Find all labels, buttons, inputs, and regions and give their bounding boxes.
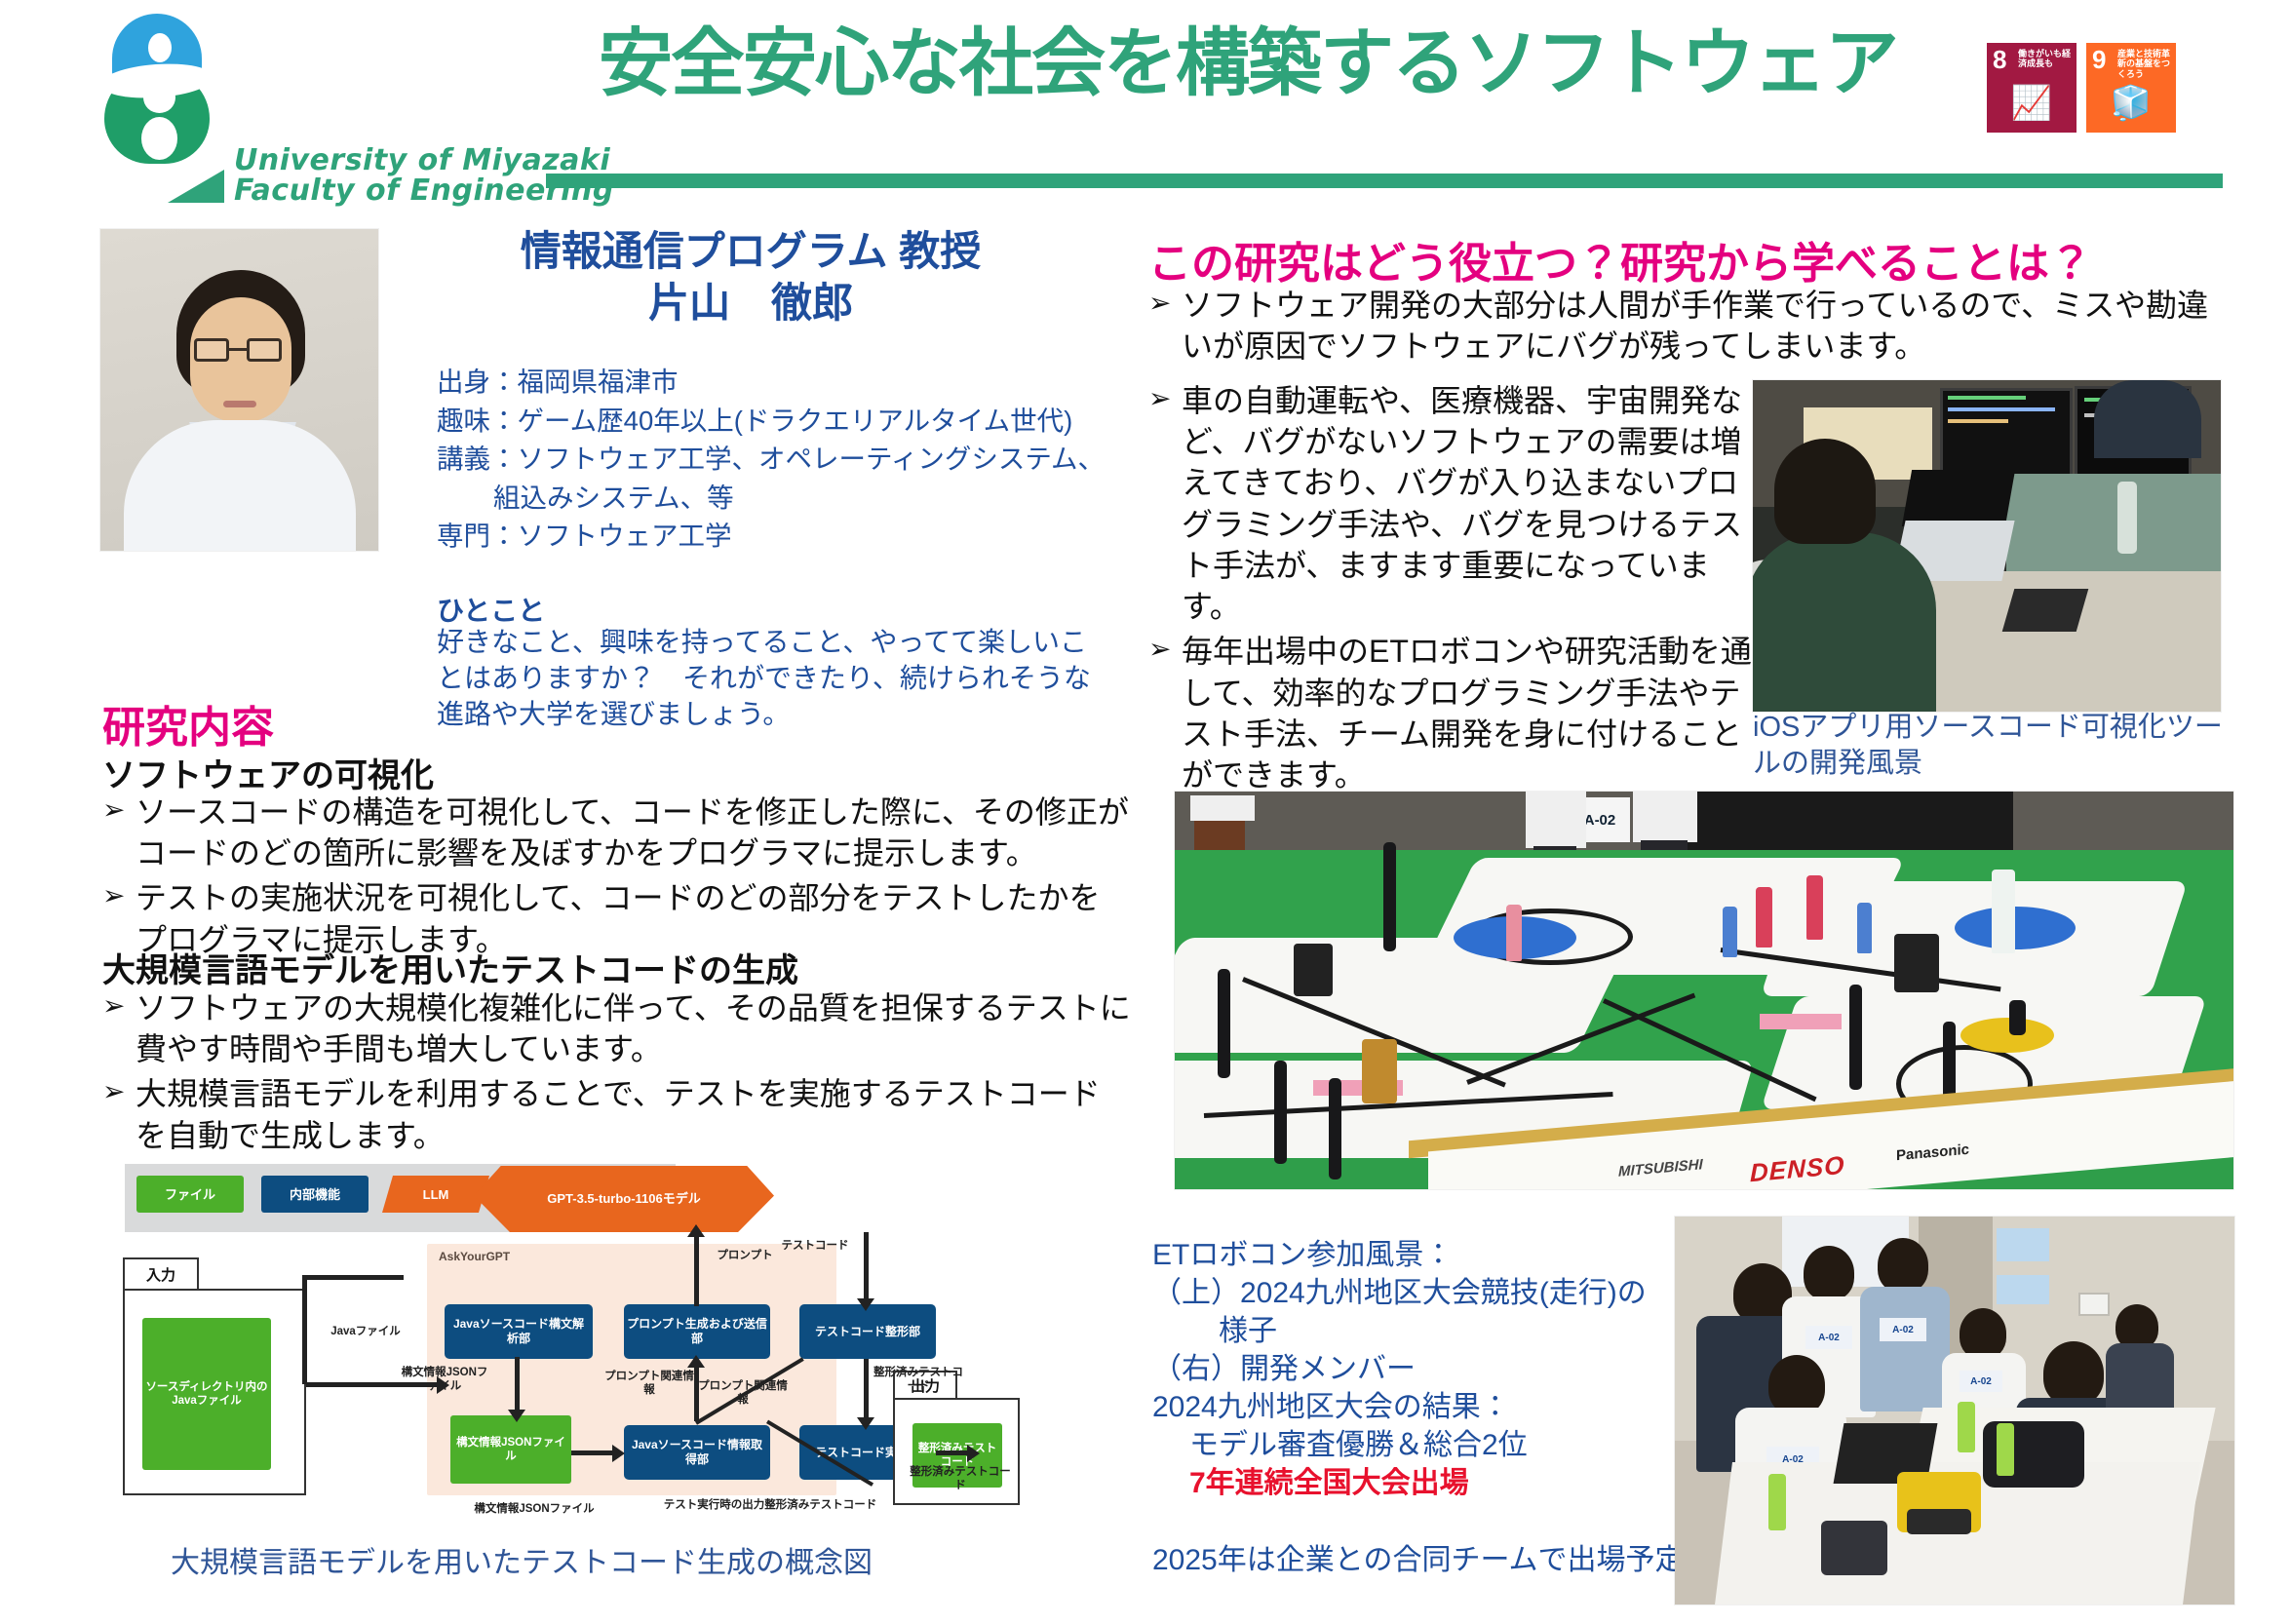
etrobo-line-2: （上）2024九州地区大会競技(走行)の — [1152, 1274, 1698, 1312]
diagram-input-tab: 入力 — [123, 1257, 199, 1291]
bullet-text: 車の自動運転や、医療機器、宇宙開発など、バグがないソフトウェアの需要は増えてきて… — [1182, 380, 1753, 627]
sdg-badge-9: 9 産業と技術革新の基盤をつくろう 🧊 — [2086, 43, 2176, 133]
logo-wedge-icon — [168, 170, 224, 203]
diagram-llm-node: GPT-3.5-turbo-1106モデル — [474, 1166, 774, 1232]
fact-specialty: 専門：ソフトウェア工学 — [437, 517, 1119, 556]
research-heading: 研究内容 — [102, 692, 274, 754]
research-section2-bullets: ➢ ソフトウェアの大規模化複雑化に伴って、その品質を担保するテストに費やす時間や… — [102, 987, 1131, 1160]
sdg-8-label: 働きがいも経済成長も — [2018, 49, 2073, 69]
llm-testcode-diagram: ファイル 内部機能 LLM データ AskYourGPT 入力 ソースディレクト… — [117, 1160, 1024, 1530]
bib-label: A-02 — [1960, 1371, 2002, 1392]
diagram-prompt-generator: プロンプト生成および送信部 — [624, 1304, 770, 1359]
logo-line-1: University of Miyazaki — [234, 146, 614, 176]
professor-role: 情報通信プログラム 教授 — [409, 226, 1092, 276]
bullet-arrow-icon: ➢ — [102, 792, 136, 873]
header-divider — [546, 174, 2223, 188]
diagram-panel-label: AskYourGPT — [439, 1250, 510, 1263]
page-title: 安全安心な社会を構築するソフトウェア — [546, 27, 1950, 101]
right-bullets-top: ➢ ソフトウェア開発の大部分は人間が手作業で行っているので、ミスや勘違いが原因で… — [1148, 285, 2235, 370]
list-item: ➢ ソフトウェアの大規模化複雑化に伴って、その品質を担保するテストに費やす時間や… — [102, 987, 1131, 1069]
caption-exec: テスト実行時の出力整形済みテストコード — [663, 1499, 877, 1513]
list-item: ➢ 毎年出場中のETロボコンや研究活動を通して、効率的なプログラミング手法やテス… — [1148, 631, 1753, 795]
bullet-arrow-icon: ➢ — [1148, 380, 1182, 627]
list-item: ➢ 大規模言語モデルを利用することで、テストを実施するテストコードを自動で生成し… — [102, 1073, 1131, 1155]
university-logo-icon — [93, 14, 219, 150]
etrobo-highlight: 7年連続全国大会出場 — [1152, 1464, 1698, 1502]
professor-portrait-photo — [100, 229, 378, 551]
legend-llm-chip: LLM — [382, 1176, 489, 1213]
fact-lectures-cont: 組込みシステム、等 — [437, 479, 1119, 518]
bullet-text: 大規模言語モデルを利用することで、テストを実施するテストコードを自動で生成します… — [136, 1073, 1131, 1155]
bib-label: A-02 — [1805, 1326, 1852, 1349]
right-bullets-rest: ➢ 車の自動運転や、医療機器、宇宙開発など、バグがないソフトウェアの需要は増えて… — [1148, 380, 1753, 799]
etrobo-line-1: ETロボコン参加風景： — [1152, 1236, 1698, 1274]
edge-prompt-info-1: プロンプト関連情報 — [604, 1371, 694, 1398]
hitokoto-body: 好きなこと、興味を持ってること、やってて楽しいことはありますか？ それができたり… — [437, 624, 1109, 733]
edge-testcode: テストコード — [778, 1240, 852, 1254]
research-section1-bullets: ➢ ソースコードの構造を可視化して、コードを修正した際に、その修正がコードのどの… — [102, 792, 1131, 964]
diagram-json-stack: 構文情報JSONファイル — [450, 1415, 571, 1484]
diagram-testcode-parser: テストコード整形部 — [799, 1304, 936, 1359]
etrobocon-team-photo: A-02 A-02 A-02 A-02 — [1675, 1217, 2234, 1605]
professor-name: 片山 徹郎 — [409, 278, 1092, 328]
bullet-arrow-icon: ➢ — [1148, 285, 1182, 367]
bullet-arrow-icon: ➢ — [102, 987, 136, 1069]
sdg-9-number: 9 — [2092, 47, 2106, 72]
sdg-9-label: 産業と技術革新の基盤をつくろう — [2117, 49, 2172, 79]
research-section2-title: 大規模言語モデルを用いたテストコードの生成 — [102, 944, 798, 991]
etrobo-line-6: モデル審査優勝＆総合2位 — [1152, 1426, 1698, 1464]
diagram-java-analyzer: Javaソースコード構文解析部 — [445, 1304, 593, 1359]
lab-photo-caption: iOSアプリ用ソースコード可視化ツールの開発風景 — [1753, 710, 2240, 781]
bib-label: A-02 — [1880, 1318, 1926, 1341]
diagram-java-extractor: Javaソースコード情報取得部 — [624, 1425, 770, 1480]
professor-facts: 出身：福岡県福津市 趣味：ゲーム歴40年以上(ドラクエリアルタイム世代) 講義：… — [437, 363, 1119, 556]
bullet-text: 毎年出場中のETロボコンや研究活動を通して、効率的なプログラミング手法やテスト手… — [1182, 631, 1753, 795]
etrobo-line-4: （右）開発メンバー — [1152, 1350, 1698, 1388]
fact-origin: 出身：福岡県福津市 — [437, 363, 1119, 402]
fact-hobby: 趣味：ゲーム歴40年以上(ドラクエリアルタイム世代) — [437, 402, 1119, 441]
diagram-caption: 大規模言語モデルを用いたテストコード生成の概念図 — [117, 1538, 926, 1581]
edge-java-file: Javaファイル — [324, 1326, 408, 1339]
growth-chart-icon: 📈 — [1995, 80, 2069, 127]
list-item: ➢ 車の自動運転や、医療機器、宇宙開発など、バグがないソフトウェアの需要は増えて… — [1148, 380, 1753, 627]
edge-formatted-testcode: 整形済みテストコード — [873, 1367, 963, 1394]
bullet-arrow-icon: ➢ — [102, 1073, 136, 1155]
etrobocon-caption: ETロボコン参加風景： （上）2024九州地区大会競技(走行)の 様子 （右）開… — [1152, 1236, 1698, 1502]
hitokoto-heading: ひとこと — [437, 590, 545, 629]
bullet-text: ソースコードの構造を可視化して、コードを修正した際に、その修正がコードのどの箇所… — [136, 792, 1131, 873]
right-section-heading: この研究はどう役立つ？研究から学べることは？ — [1148, 228, 2092, 290]
edge-syntax-json: 構文情報JSONファイル — [398, 1367, 491, 1394]
etrobo-line-3: 様子 — [1152, 1312, 1698, 1350]
edge-prompt: プロンプト — [702, 1250, 788, 1263]
lab-development-photo — [1753, 380, 2221, 712]
legend-module-chip: 内部機能 — [261, 1176, 369, 1213]
list-item: ➢ ソフトウェア開発の大部分は人間が手作業で行っているので、ミスや勘違いが原因で… — [1148, 285, 2235, 367]
edge-prompt-info-2: プロンプト関連情報 — [698, 1380, 788, 1408]
etrobocon-track-photo: A-02 MITSUBISH — [1175, 792, 2233, 1189]
bullet-arrow-icon: ➢ — [1148, 631, 1182, 795]
research-section1-title: ソフトウェアの可視化 — [102, 749, 434, 796]
etrobo-line-5: 2024九州地区大会の結果： — [1152, 1388, 1698, 1426]
edge-output: 整形済みテストコード — [907, 1466, 1014, 1493]
diagram-source-stack: ソースディレクトリ内のJavaファイル — [142, 1318, 271, 1470]
fact-lectures: 講義：ソフトウェア工学、オペレーティングシステム、 — [437, 440, 1119, 479]
caption-json: 構文情報JSONファイル — [427, 1503, 641, 1517]
sdg-8-number: 8 — [1993, 47, 2006, 72]
bullet-text: ソフトウェア開発の大部分は人間が手作業で行っているので、ミスや勘違いが原因でソフ… — [1182, 285, 2235, 367]
legend-file-chip: ファイル — [136, 1176, 244, 1213]
poster-header: University of Miyazaki Faculty of Engine… — [0, 0, 2290, 195]
sdg-badge-8: 8 働きがいも経済成長も 📈 — [1987, 43, 2077, 133]
cubes-icon: 🧊 — [2094, 80, 2168, 127]
list-item: ➢ ソースコードの構造を可視化して、コードを修正した際に、その修正がコードのどの… — [102, 792, 1131, 873]
bullet-text: ソフトウェアの大規模化複雑化に伴って、その品質を担保するテストに費やす時間や手間… — [136, 987, 1131, 1069]
poster-root: University of Miyazaki Faculty of Engine… — [0, 0, 2290, 1624]
